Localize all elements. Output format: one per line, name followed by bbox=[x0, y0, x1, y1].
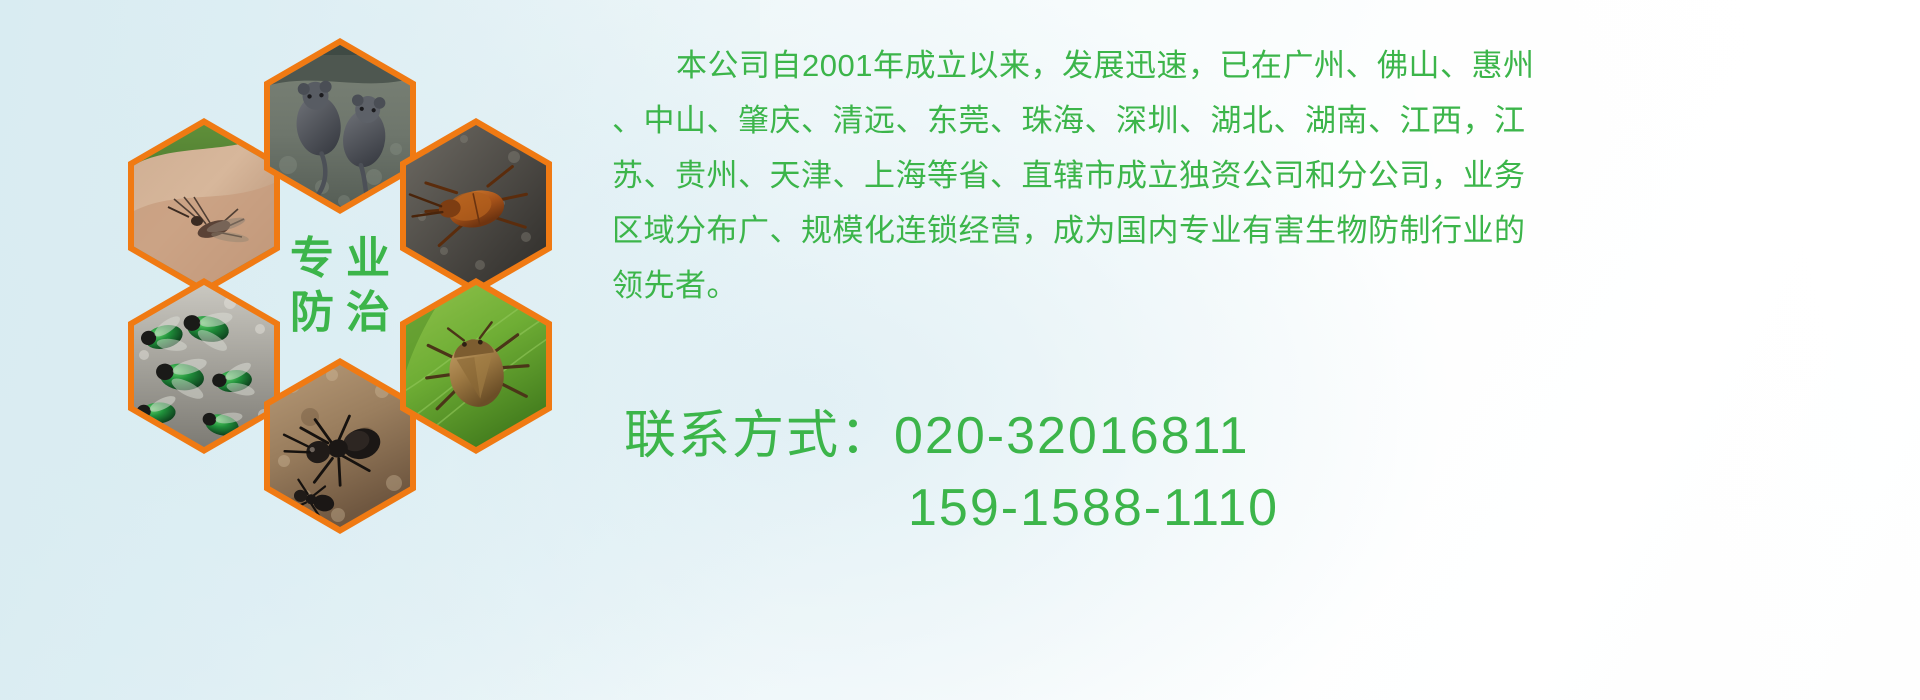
stinkbug-photo bbox=[406, 285, 546, 447]
cockroach-photo bbox=[406, 125, 546, 287]
contact-primary-phone[interactable]: 联系方式：020-32016811 bbox=[624, 400, 1279, 472]
honeycomb-label-line-2: 防治 bbox=[278, 289, 402, 337]
contact-secondary-phone[interactable]: 159-1588-1110 bbox=[624, 472, 1279, 544]
contact-block: 联系方式：020-32016811 159-1588-1110 bbox=[624, 400, 1279, 544]
description-line-1: 本公司自2001年成立以来，发展迅速，已在广州、佛山、惠州 bbox=[612, 38, 1892, 93]
honeycomb-image-cluster: 专业 防治 bbox=[92, 14, 592, 574]
hex-cell-cockroach bbox=[400, 118, 552, 294]
hex-cell-stinkbug bbox=[400, 278, 552, 454]
ant-photo bbox=[270, 365, 410, 527]
description-line-3: 苏、贵州、天津、上海等省、直辖市成立独资公司和分公司，业务 bbox=[612, 148, 1892, 203]
mosquito-photo bbox=[134, 125, 274, 287]
fly-icon bbox=[134, 285, 274, 447]
description-line-2: 、中山、肇庆、清远、东莞、珠海、深圳、湖北、湖南、江西，江 bbox=[612, 93, 1892, 148]
hex-cell-ant bbox=[264, 358, 416, 534]
hex-cell-mosquito bbox=[128, 118, 280, 294]
honeycomb-label-line-1: 专业 bbox=[278, 235, 402, 283]
promo-banner: 专业 防治 本公司自2001年成立以来，发展迅速，已在广州、佛山、惠州 、中山、… bbox=[0, 0, 1920, 700]
hex-cell-flies bbox=[128, 278, 280, 454]
description-line-4: 区域分布广、规模化连锁经营，成为国内专业有害生物防制行业的 bbox=[612, 203, 1892, 258]
company-description: 本公司自2001年成立以来，发展迅速，已在广州、佛山、惠州 、中山、肇庆、清远、… bbox=[612, 38, 1892, 313]
rat-icon bbox=[270, 45, 410, 207]
honeycomb-center-label: 专业 防治 bbox=[264, 198, 416, 374]
stinkbug-icon bbox=[406, 285, 546, 447]
description-line-5: 领先者。 bbox=[612, 258, 1892, 313]
cockroach-icon bbox=[406, 125, 546, 287]
hex-cell-rats bbox=[264, 38, 416, 214]
rats-photo bbox=[270, 45, 410, 207]
mosquito-icon bbox=[134, 125, 274, 287]
flies-photo bbox=[134, 285, 274, 447]
ant-icon bbox=[270, 365, 410, 527]
